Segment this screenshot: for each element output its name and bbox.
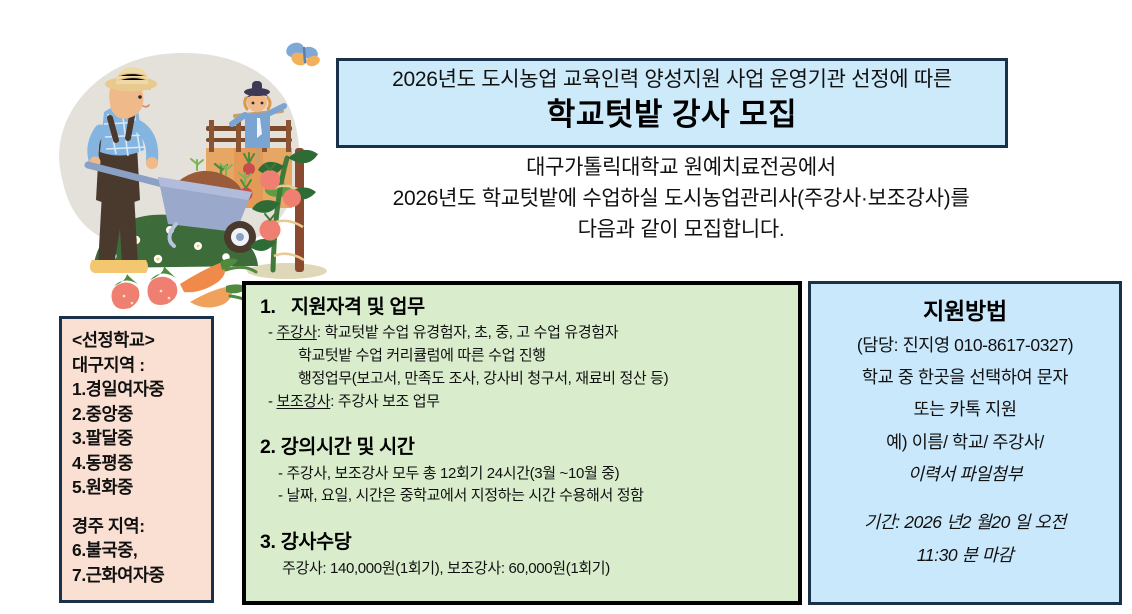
section1-heading: 1. 지원자격 및 업무: [260, 293, 786, 322]
section2-heading: 2. 강의시간 및 시간: [260, 433, 786, 462]
poster-canvas: 2026년도 도시농업 교육인력 양성지원 사업 운영기관 선정에 따른 학교텃…: [0, 0, 1132, 614]
section2-line2: - 날짜, 요일, 시간은 중학교에서 지정하는 시간 수용해서 정함: [260, 485, 786, 508]
school-item: 1.경일여자중: [72, 377, 211, 402]
schools-spacer: [72, 500, 211, 514]
poster-subtitle: 대구가톨릭대학교 원예치료전공에서 2026년도 학교텃밭에 수업하실 도시농업…: [336, 152, 1026, 245]
apply-contact: (담당: 진지영 010-8617-0327): [819, 329, 1111, 361]
example-prefix: 예): [886, 432, 912, 452]
apply-title: 지원방법: [819, 294, 1111, 329]
how-to-apply-box: 지원방법 (담당: 진지영 010-8617-0327) 학교 중 한곳을 선택…: [808, 281, 1122, 605]
schools-heading: <선정학교>: [72, 328, 211, 353]
section1-line1-rest: : 학교텃밭 수업 유경험자, 초, 중, 고 수업 유경험자: [317, 324, 618, 341]
section1-line4-rest: : 주강사 보조 업무: [330, 393, 439, 410]
section2-title: 강의시간 및 시간: [281, 436, 415, 458]
school-item: 4.동평중: [72, 451, 211, 476]
section1-line3: 행정업무(보고서, 만족도 조사, 강사비 청구서, 재료비 정산 등): [260, 368, 786, 391]
region-gyeongju-label: 경주 지역:: [72, 514, 211, 539]
poster-title-line1: 2026년도 도시농업 교육인력 양성지원 사업 운영기관 선정에 따른: [392, 68, 952, 92]
selected-schools-box: <선정학교> 대구지역 : 1.경일여자중 2.중앙중 3.팔달중 4.동평중 …: [59, 316, 214, 603]
apply-deadline-line2: 11:30 분 마감: [819, 539, 1111, 571]
details-box: 1. 지원자격 및 업무 - 주강사: 학교텃밭 수업 유경험자, 초, 중, …: [242, 281, 802, 605]
school-item: 3.팔달중: [72, 426, 211, 451]
poster-title-line2: 학교텃밭 강사 모집: [547, 96, 797, 135]
tomato-ground-shadow: [247, 263, 327, 279]
section3-number: 3.: [260, 531, 276, 553]
school-item: 7.근화여자중: [72, 563, 211, 588]
school-item: 2.중앙중: [72, 402, 211, 427]
role-main-instructor: 주강사: [276, 324, 316, 341]
section2-number: 2.: [260, 436, 276, 458]
subtitle-line1: 대구가톨릭대학교 원예치료전공에서: [336, 152, 1026, 183]
section3-title: 강사수당: [281, 531, 352, 553]
section1-title: 지원자격 및 업무: [291, 296, 425, 318]
garden-illustration: [30, 18, 360, 318]
role-assistant-instructor: 보조강사: [276, 393, 330, 410]
section3-line1: 주강사: 140,000원(1회기), 보조강사: 60,000원(1회기): [260, 558, 786, 581]
apply-example-line2: 이력서 파일첨부: [819, 458, 1111, 490]
apply-line1: 학교 중 한곳을 선택하여 문자: [819, 361, 1111, 393]
apply-example-line1: 예) 이름/ 학교/ 주강사/: [819, 426, 1111, 458]
subtitle-line2: 2026년도 학교텃밭에 수업하실 도시농업관리사(주강사·보조강사)를: [336, 183, 1026, 214]
section3-heading: 3. 강사수당: [260, 528, 786, 557]
section1-line4: - 보조강사: 주강사 보조 업무: [260, 391, 786, 414]
section1-line2: 학교텃밭 수업 커리큘럼에 따른 수업 진행: [260, 345, 786, 368]
apply-deadline-line1: 기간: 2026 년2 월20 일 오전: [819, 506, 1111, 538]
poster-title-box: 2026년도 도시농업 교육인력 양성지원 사업 운영기관 선정에 따른 학교텃…: [336, 58, 1008, 148]
section1-line1: - 주강사: 학교텃밭 수업 유경험자, 초, 중, 고 수업 유경험자: [260, 322, 786, 345]
subtitle-line3: 다음과 같이 모집합니다.: [336, 214, 1026, 245]
region-daegu-label: 대구지역 :: [72, 353, 211, 378]
apply-spacer: [819, 490, 1111, 506]
section-spacer: [260, 508, 786, 528]
apply-line2: 또는 카톡 지원: [819, 393, 1111, 425]
section1-number: 1.: [260, 296, 276, 318]
example-format: 이름/ 학교/ 주강사/: [912, 432, 1044, 452]
school-item: 6.불국중,: [72, 538, 211, 563]
section2-line1: - 주강사, 보조강사 모두 총 12회기 24시간(3월 ~10월 중): [260, 463, 786, 486]
butterfly-icon: [284, 40, 321, 68]
school-item: 5.원화중: [72, 475, 211, 500]
section-spacer: [260, 413, 786, 433]
